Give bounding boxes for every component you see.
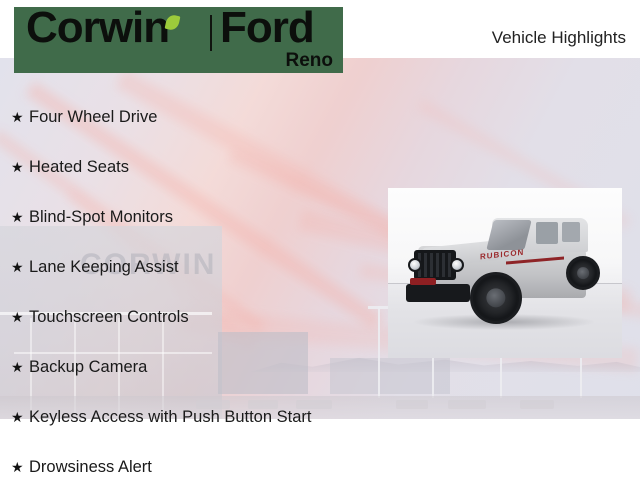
list-item-label: Backup Camera — [29, 359, 147, 376]
vehicle-photo[interactable]: RUBICON — [388, 188, 622, 358]
list-item-label: Heated Seats — [29, 159, 129, 176]
grille-slot — [442, 253, 445, 277]
headlight-icon — [408, 258, 422, 272]
jeep-side-window — [536, 222, 558, 244]
list-item-label: Four Wheel Drive — [29, 109, 157, 126]
star-icon: ★ — [11, 410, 29, 424]
logo-divider — [210, 15, 212, 51]
jeep-winch — [410, 278, 436, 285]
grille-slot — [436, 253, 439, 277]
vehicle-highlights-list: ★ Four Wheel Drive ★ Heated Seats ★ Blin… — [0, 92, 400, 480]
star-icon: ★ — [11, 160, 29, 174]
list-item: ★ Keyless Access with Push Button Start — [0, 392, 400, 442]
wheel-hub — [577, 267, 589, 279]
grille-slot — [430, 253, 433, 277]
headlight-icon — [450, 258, 464, 272]
list-item: ★ Lane Keeping Assist — [0, 242, 400, 292]
grille-slot — [424, 253, 427, 277]
list-item-label: Blind-Spot Monitors — [29, 209, 173, 226]
list-item-label: Touchscreen Controls — [29, 309, 189, 326]
star-icon: ★ — [11, 310, 29, 324]
parked-car — [396, 400, 428, 409]
list-item: ★ Touchscreen Controls — [0, 292, 400, 342]
star-icon: ★ — [11, 210, 29, 224]
jeep-rear-window — [562, 222, 580, 242]
list-item-label: Lane Keeping Assist — [29, 259, 179, 276]
list-item-label: Drowsiness Alert — [29, 459, 152, 476]
list-item: ★ Heated Seats — [0, 142, 400, 192]
dealer-logo[interactable]: Corwin Ford Reno — [14, 7, 343, 73]
page-title: Vehicle Highlights — [492, 28, 626, 48]
jeep-rear-wheel — [566, 256, 600, 290]
jeep-front-wheel — [470, 272, 522, 324]
parked-car — [520, 400, 554, 409]
logo-wordmark-corwin: Corwin — [26, 7, 169, 53]
star-icon: ★ — [11, 260, 29, 274]
logo-sublabel-reno: Reno — [286, 50, 334, 72]
list-item: ★ Backup Camera — [0, 342, 400, 392]
list-item: ★ Four Wheel Drive — [0, 92, 400, 142]
list-item: ★ Blind-Spot Monitors — [0, 192, 400, 242]
jeep-front-bumper — [406, 284, 470, 302]
slide-canvas: CORWIN Vehicle Highlights Corwin Ford Re… — [0, 0, 640, 480]
star-icon: ★ — [11, 110, 29, 124]
star-icon: ★ — [11, 460, 29, 474]
jeep-windshield — [486, 220, 531, 250]
list-item-label: Keyless Access with Push Button Start — [29, 409, 311, 426]
star-icon: ★ — [11, 360, 29, 374]
list-item: ★ Drowsiness Alert — [0, 442, 400, 480]
logo-wordmark-ford: Ford — [220, 7, 314, 53]
wheel-hub — [486, 288, 505, 307]
parked-car — [448, 400, 486, 409]
